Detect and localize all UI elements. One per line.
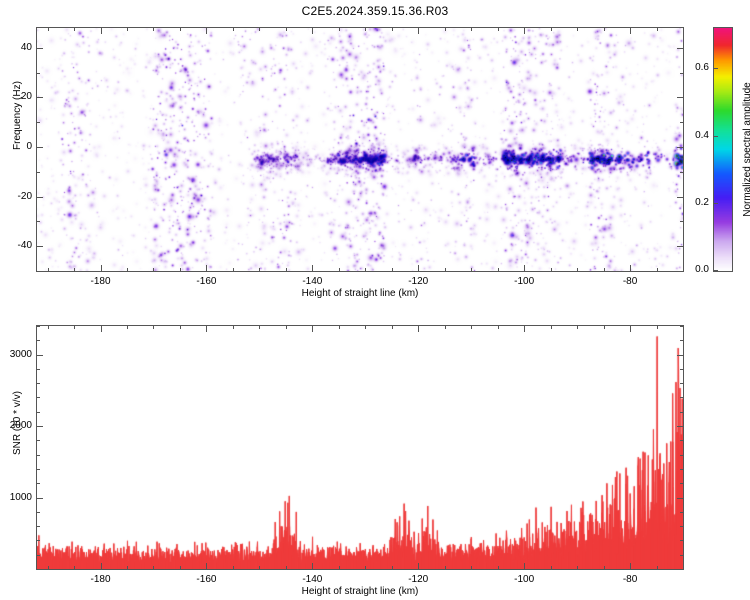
x-tick-top	[418, 27, 419, 34]
x-tick-top	[101, 325, 102, 332]
x-minor-tick	[445, 566, 446, 570]
x-tick-label: -120	[393, 276, 443, 287]
y-minor-tick-right	[680, 555, 684, 556]
x-minor-tick-top	[74, 27, 75, 31]
y-minor-tick-right	[680, 512, 684, 513]
y-minor-tick	[36, 483, 40, 484]
x-tick	[101, 265, 102, 272]
x-minor-tick	[180, 268, 181, 272]
y-tick	[36, 97, 43, 98]
x-minor-tick	[551, 268, 552, 272]
x-minor-tick-top	[74, 325, 75, 329]
y-minor-tick	[36, 122, 40, 123]
x-minor-tick-top	[286, 325, 287, 329]
y-minor-tick-right	[680, 340, 684, 341]
y-minor-tick	[36, 526, 40, 527]
spectrogram-image	[37, 28, 683, 271]
x-minor-tick-top	[551, 325, 552, 329]
x-minor-tick-top	[577, 27, 578, 31]
x-minor-tick	[153, 268, 154, 272]
y-minor-tick-right	[680, 221, 684, 222]
x-minor-tick-top	[683, 27, 684, 31]
x-minor-tick-top	[604, 27, 605, 31]
x-tick-top	[206, 325, 207, 332]
x-minor-tick-top	[471, 27, 472, 31]
x-tick-label: -180	[76, 574, 126, 585]
y-minor-tick	[36, 73, 40, 74]
x-tick	[206, 265, 207, 272]
y-tick	[36, 426, 43, 427]
y-minor-tick-right	[680, 369, 684, 370]
x-tick	[630, 563, 631, 570]
x-tick-top	[312, 27, 313, 34]
y-minor-tick-right	[680, 383, 684, 384]
x-minor-tick-top	[259, 325, 260, 329]
colorbar-tick	[713, 203, 718, 204]
colorbar-tick-label: 0.0	[681, 264, 709, 275]
x-minor-tick-top	[180, 325, 181, 329]
snr-x-axis-label: Height of straight line (km)	[36, 586, 684, 597]
x-minor-tick	[153, 566, 154, 570]
colorbar-label: Normalized spectral amplitude	[742, 27, 750, 272]
y-tick	[36, 246, 43, 247]
y-tick-right	[677, 355, 684, 356]
x-tick-top	[524, 325, 525, 332]
x-tick-top	[101, 27, 102, 34]
y-minor-tick	[36, 271, 40, 272]
spectrogram-y-axis-label: Frequency (Hz)	[12, 81, 23, 150]
x-minor-tick-top	[127, 325, 128, 329]
x-minor-tick-top	[48, 325, 49, 329]
x-tick-top	[630, 27, 631, 34]
x-minor-tick	[604, 268, 605, 272]
x-minor-tick-top	[392, 325, 393, 329]
x-minor-tick	[127, 566, 128, 570]
colorbar-tick	[713, 270, 718, 271]
x-minor-tick	[48, 268, 49, 272]
x-tick	[101, 563, 102, 570]
x-minor-tick-top	[180, 27, 181, 31]
x-minor-tick	[392, 268, 393, 272]
y-minor-tick	[36, 469, 40, 470]
x-tick	[524, 265, 525, 272]
x-minor-tick	[74, 566, 75, 570]
colorbar-tick	[713, 68, 718, 69]
x-minor-tick	[339, 268, 340, 272]
y-tick-right	[677, 48, 684, 49]
x-minor-tick-top	[233, 27, 234, 31]
x-minor-tick	[74, 268, 75, 272]
snr-y-axis-label: SNR (10 * v/v)	[12, 391, 23, 455]
colorbar	[713, 27, 733, 272]
y-minor-tick-right	[680, 412, 684, 413]
y-minor-tick-right	[680, 526, 684, 527]
x-tick-top	[524, 27, 525, 34]
y-tick-right	[677, 498, 684, 499]
x-tick-label: -80	[605, 276, 655, 287]
x-minor-tick	[551, 566, 552, 570]
x-minor-tick-top	[233, 325, 234, 329]
y-minor-tick-right	[680, 122, 684, 123]
x-tick	[630, 265, 631, 272]
x-minor-tick-top	[657, 27, 658, 31]
y-minor-tick-right	[680, 455, 684, 456]
x-minor-tick	[127, 268, 128, 272]
y-tick-right	[677, 426, 684, 427]
x-minor-tick	[471, 566, 472, 570]
x-minor-tick	[180, 566, 181, 570]
y-tick	[36, 355, 43, 356]
x-minor-tick-top	[365, 27, 366, 31]
y-minor-tick	[36, 555, 40, 556]
x-tick-label: -140	[287, 276, 337, 287]
x-minor-tick	[259, 566, 260, 570]
x-minor-tick-top	[286, 27, 287, 31]
x-minor-tick	[498, 268, 499, 272]
x-tick	[524, 563, 525, 570]
x-minor-tick-top	[153, 27, 154, 31]
x-tick-label: -100	[499, 574, 549, 585]
spectrogram-plot	[36, 27, 684, 272]
x-minor-tick	[498, 566, 499, 570]
y-minor-tick-right	[680, 326, 684, 327]
y-tick-label: 3000	[0, 349, 32, 360]
x-tick-label: -160	[181, 276, 231, 287]
y-tick-label: -40	[0, 240, 32, 251]
y-tick-label: -20	[0, 191, 32, 202]
y-minor-tick	[36, 569, 40, 570]
x-minor-tick-top	[153, 325, 154, 329]
x-minor-tick-top	[48, 27, 49, 31]
x-tick	[418, 265, 419, 272]
x-minor-tick	[48, 566, 49, 570]
y-tick-label: 1000	[0, 492, 32, 503]
x-minor-tick	[471, 268, 472, 272]
x-minor-tick-top	[657, 325, 658, 329]
x-tick	[312, 563, 313, 570]
x-minor-tick-top	[339, 27, 340, 31]
figure-title: C2E5.2024.359.15.36.R03	[0, 4, 750, 18]
x-minor-tick-top	[445, 325, 446, 329]
y-minor-tick	[36, 412, 40, 413]
x-minor-tick-top	[471, 325, 472, 329]
y-minor-tick-right	[680, 569, 684, 570]
y-tick	[36, 498, 43, 499]
x-minor-tick	[286, 566, 287, 570]
x-tick-label: -80	[605, 574, 655, 585]
x-tick	[312, 265, 313, 272]
x-minor-tick	[577, 268, 578, 272]
x-minor-tick-top	[392, 27, 393, 31]
x-tick-label: -180	[76, 276, 126, 287]
y-minor-tick	[36, 383, 40, 384]
x-tick-label: -140	[287, 574, 337, 585]
x-minor-tick-top	[339, 325, 340, 329]
y-tick-right	[677, 246, 684, 247]
figure-canvas: C2E5.2024.359.15.36.R03 -180-160-140-120…	[0, 0, 750, 600]
x-tick-top	[630, 325, 631, 332]
y-minor-tick	[36, 540, 40, 541]
x-minor-tick	[259, 268, 260, 272]
y-minor-tick-right	[680, 469, 684, 470]
y-tick	[36, 147, 43, 148]
spectrogram-x-axis-label: Height of straight line (km)	[36, 288, 684, 299]
y-tick	[36, 197, 43, 198]
x-minor-tick	[365, 268, 366, 272]
y-minor-tick	[36, 221, 40, 222]
x-minor-tick	[233, 566, 234, 570]
x-minor-tick	[365, 566, 366, 570]
x-minor-tick	[604, 566, 605, 570]
colorbar-tick-label: 0.2	[681, 197, 709, 208]
y-minor-tick	[36, 512, 40, 513]
x-minor-tick	[392, 566, 393, 570]
x-tick	[206, 563, 207, 570]
y-tick-right	[677, 147, 684, 148]
x-tick-top	[206, 27, 207, 34]
x-tick	[418, 563, 419, 570]
x-minor-tick	[233, 268, 234, 272]
y-minor-tick-right	[680, 440, 684, 441]
x-minor-tick-top	[577, 325, 578, 329]
y-minor-tick-right	[680, 172, 684, 173]
x-minor-tick	[657, 268, 658, 272]
x-minor-tick	[286, 268, 287, 272]
y-minor-tick	[36, 397, 40, 398]
y-minor-tick	[36, 340, 40, 341]
x-tick-label: -160	[181, 574, 231, 585]
y-minor-tick-right	[680, 540, 684, 541]
x-minor-tick-top	[259, 27, 260, 31]
colorbar-tick-label: 0.4	[681, 130, 709, 141]
snr-plot	[36, 325, 684, 570]
x-minor-tick	[577, 566, 578, 570]
x-tick-top	[418, 325, 419, 332]
y-tick-label: 40	[0, 42, 32, 53]
y-minor-tick	[36, 172, 40, 173]
x-tick-label: -100	[499, 276, 549, 287]
y-minor-tick-right	[680, 397, 684, 398]
x-minor-tick	[657, 566, 658, 570]
y-minor-tick	[36, 326, 40, 327]
x-minor-tick-top	[365, 325, 366, 329]
x-minor-tick-top	[127, 27, 128, 31]
y-tick-right	[677, 97, 684, 98]
x-tick-top	[312, 325, 313, 332]
x-minor-tick-top	[604, 325, 605, 329]
y-minor-tick	[36, 369, 40, 370]
x-minor-tick-top	[551, 27, 552, 31]
colorbar-tick	[713, 136, 718, 137]
y-minor-tick	[36, 455, 40, 456]
x-minor-tick-top	[498, 325, 499, 329]
colorbar-tick-label: 0.6	[681, 62, 709, 73]
x-minor-tick-top	[498, 27, 499, 31]
x-minor-tick	[339, 566, 340, 570]
snr-trace	[37, 326, 683, 569]
y-minor-tick	[36, 440, 40, 441]
x-tick-label: -120	[393, 574, 443, 585]
x-minor-tick	[445, 268, 446, 272]
x-minor-tick-top	[445, 27, 446, 31]
y-minor-tick-right	[680, 483, 684, 484]
y-tick	[36, 48, 43, 49]
